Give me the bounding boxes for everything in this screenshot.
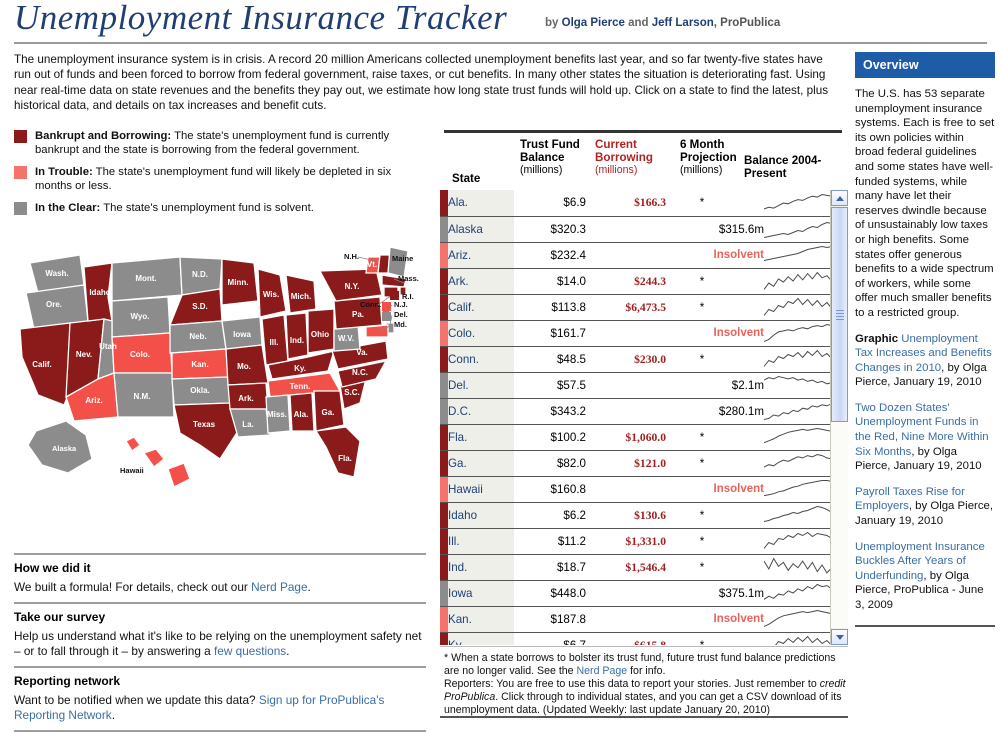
cell-state[interactable]: Ky.: [448, 632, 514, 645]
cell-projection: *: [666, 632, 764, 645]
row-status-bar: [440, 320, 448, 346]
map-label-al: Ala.: [294, 410, 309, 419]
table-row[interactable]: Iowa$448.0$375.1m: [440, 580, 848, 606]
map-label-mt: Mont.: [135, 274, 156, 283]
cell-projection: *: [666, 346, 764, 372]
map-label-ca: Calif.: [32, 360, 52, 369]
row-status-bar: [440, 450, 448, 476]
map-label-tn: Tenn.: [290, 382, 311, 391]
cell-current-borrowing: $166.3: [586, 190, 666, 216]
row-status-bar: [440, 502, 448, 528]
row-status-bar: [440, 398, 448, 424]
cell-trust-fund: $343.2: [514, 398, 586, 424]
table-row[interactable]: Conn.$48.5$230.0*: [440, 346, 848, 372]
row-status-bar: [440, 606, 448, 632]
cell-state[interactable]: Ill.: [448, 528, 514, 554]
sidebar-item-1-prefix: Graphic: [855, 333, 901, 345]
table-row[interactable]: Ind.$18.7$1,546.4*: [440, 554, 848, 580]
scroll-up-button[interactable]: [831, 190, 848, 206]
table-header-row: State Trust Fund Balance (millions) Curr…: [440, 133, 848, 190]
cell-current-borrowing: [586, 320, 666, 346]
map-label-va: Va.: [356, 348, 368, 357]
cell-state[interactable]: Ala.: [448, 190, 514, 216]
panel-body-survey: Help us understand what it's like to be …: [14, 629, 426, 659]
legend-desc-clear: The state's unemployment fund is solvent…: [100, 202, 314, 214]
map-svg[interactable]: Wash. Ore. Calif. Nev. Idaho Mont. Wyo. …: [8, 245, 428, 545]
state-tx[interactable]: [174, 403, 238, 459]
cell-state[interactable]: Iowa: [448, 580, 514, 606]
scrollbar-track[interactable]: [831, 422, 848, 628]
state-table-panel: State Trust Fund Balance (millions) Curr…: [440, 130, 848, 645]
state-md[interactable]: [366, 325, 388, 337]
table-row[interactable]: Calif.$113.8$6,473.5*: [440, 294, 848, 320]
cell-trust-fund: $14.0: [514, 268, 586, 294]
cell-projection: *: [666, 450, 764, 476]
legend-swatch-trouble-icon: [14, 166, 27, 179]
map-label-ok: Okla.: [190, 386, 210, 395]
footnote-line1b: for info.: [627, 665, 665, 677]
map-label-nh: N.H.: [344, 252, 359, 261]
cell-current-borrowing: [586, 398, 666, 424]
table-scroll-viewport[interactable]: Ala.$6.9$166.3*Alaska$320.3$315.6mAriz.$…: [440, 190, 848, 645]
column-header-balance-history: Balance 2004-Present: [744, 155, 839, 180]
cell-current-borrowing: $6,473.5: [586, 294, 666, 320]
author-1[interactable]: Olga Pierce: [562, 17, 625, 29]
map-label-oh: Ohio: [311, 330, 329, 339]
map-label-hi: Hawaii: [120, 466, 144, 475]
panel-text-how-a: We built a formula! For details, check o…: [14, 580, 251, 594]
cell-state[interactable]: Hawaii: [448, 476, 514, 502]
panel-text-survey-b: .: [286, 644, 289, 658]
state-hi[interactable]: [126, 437, 140, 451]
scrollbar-grip-icon: [836, 310, 844, 320]
legend-item-bankrupt: Bankrupt and Borrowing: The state's unem…: [14, 129, 424, 157]
left-panels: How we did it We built a formula! For de…: [14, 553, 426, 732]
column-header-projection-unit: (millions): [680, 164, 722, 176]
cell-current-borrowing: $230.0: [586, 346, 666, 372]
map-label-fl: Fla.: [338, 454, 352, 463]
cell-trust-fund: $100.2: [514, 424, 586, 450]
cell-trust-fund: $6.2: [514, 502, 586, 528]
table-row[interactable]: Colo.$161.7Insolvent: [440, 320, 848, 346]
footnote-bottom-rule: [440, 716, 848, 718]
cell-current-borrowing: $615.8: [586, 632, 666, 645]
map-label-mo: Mo.: [237, 362, 251, 371]
cell-state[interactable]: Conn.: [448, 346, 514, 372]
map-swatch-nj-icon: [382, 302, 391, 311]
cell-current-borrowing: $1,546.4: [586, 554, 666, 580]
legend-text-clear: In the Clear: The state's unemployment f…: [35, 201, 314, 215]
table-row[interactable]: Fla.$100.2$1,060.0*: [440, 424, 848, 450]
row-status-bar: [440, 294, 448, 320]
cell-trust-fund: $18.7: [514, 554, 586, 580]
cell-projection: Insolvent: [666, 476, 764, 502]
cell-state[interactable]: Fla.: [448, 424, 514, 450]
table-vertical-scrollbar[interactable]: [830, 190, 848, 645]
legend-swatch-clear-icon: [14, 202, 27, 215]
row-status-bar: [440, 528, 448, 554]
map-label-ar: Ark.: [238, 394, 254, 403]
map-swatch-ri-icon: [390, 291, 399, 300]
cell-trust-fund: $232.4: [514, 242, 586, 268]
cell-projection: $280.1m: [666, 398, 764, 424]
cell-projection: Insolvent: [666, 320, 764, 346]
column-header-state[interactable]: State: [452, 173, 480, 186]
map-label-ga: Ga.: [322, 408, 335, 417]
cell-projection: *: [666, 554, 764, 580]
nerd-page-link-2[interactable]: Nerd Page: [577, 665, 628, 677]
map-label-me: Maine: [392, 254, 413, 263]
state-hi2[interactable]: [144, 449, 164, 467]
cell-state[interactable]: Del.: [448, 372, 514, 398]
cell-state[interactable]: Ark.: [448, 268, 514, 294]
column-header-trust-fund-unit: (millions): [520, 164, 562, 176]
sidebar-link-item-4: Unemployment Insurance Buckles After Yea…: [855, 540, 995, 613]
map-legend: Bankrupt and Borrowing: The state's unem…: [14, 129, 424, 215]
map-label-ny: N.Y.: [345, 282, 360, 291]
sidebar-link-item-1: Graphic Unemployment Tax Increases and B…: [855, 332, 995, 390]
panel-heading-how: How we did it: [14, 561, 426, 575]
page-title: Unemployment Insurance Tracker: [14, 0, 507, 38]
right-sidebar: Overview The U.S. has 53 separate unempl…: [855, 52, 995, 627]
legend-term-trouble: In Trouble:: [35, 166, 93, 178]
intro-paragraph: The unemployment insurance system is in …: [14, 52, 842, 114]
cell-state[interactable]: Colo.: [448, 320, 514, 346]
panel-divider-1: [14, 553, 426, 555]
cell-trust-fund: $161.7: [514, 320, 586, 346]
cell-state[interactable]: Kan.: [448, 606, 514, 632]
cell-state[interactable]: Alaska: [448, 216, 514, 242]
map-label-id: Idaho: [89, 288, 110, 297]
cell-current-borrowing: $130.6: [586, 502, 666, 528]
scroll-down-button[interactable]: [831, 629, 848, 645]
panel-heading-network: Reporting network: [14, 674, 426, 688]
overview-heading: Overview: [855, 52, 995, 78]
footnote-top-rule: [440, 646, 848, 647]
overview-body: The U.S. has 53 separate unemployment in…: [855, 87, 995, 321]
map-label-ne: Neb.: [189, 332, 206, 341]
panel-body-how: We built a formula! For details, check o…: [14, 580, 426, 595]
map-label-il: Ill.: [270, 338, 279, 347]
cell-current-borrowing: [586, 476, 666, 502]
legend-term-bankrupt: Bankrupt and Borrowing:: [35, 130, 171, 142]
map-label-wa: Wash.: [45, 269, 68, 278]
cell-trust-fund: $320.3: [514, 216, 586, 242]
column-header-current-borrowing-unit: (millions): [595, 164, 637, 176]
cell-trust-fund: $57.5: [514, 372, 586, 398]
cell-trust-fund: $448.0: [514, 580, 586, 606]
panel-divider-3: [14, 666, 426, 668]
cell-state[interactable]: Ga.: [448, 450, 514, 476]
map-label-wy: Wyo.: [131, 312, 150, 321]
row-status-bar: [440, 190, 448, 216]
map-label-la: La.: [242, 420, 254, 429]
map-label-nm: N.M.: [134, 392, 151, 401]
map-label-ks: Kan.: [191, 360, 208, 369]
map-label-sc: S.C.: [344, 388, 360, 397]
cell-current-borrowing: $121.0: [586, 450, 666, 476]
cell-current-borrowing: [586, 216, 666, 242]
cell-current-borrowing: [586, 580, 666, 606]
map-label-vt: Vt.: [367, 260, 377, 269]
cell-trust-fund: $187.8: [514, 606, 586, 632]
chevron-up-icon: [836, 196, 844, 201]
map-label-de: Del.: [394, 310, 408, 319]
cell-trust-fund: $113.8: [514, 294, 586, 320]
column-header-trust-fund-label: Trust Fund Balance: [520, 138, 580, 164]
cell-trust-fund: $6.7: [514, 632, 586, 645]
map-label-md: Md.: [394, 320, 407, 329]
table-row[interactable]: Alaska$320.3$315.6m: [440, 216, 848, 242]
footnote-line2b: . Click through to individual states, an…: [444, 691, 842, 716]
panel-divider-2: [14, 602, 426, 604]
cell-current-borrowing: [586, 242, 666, 268]
map-label-nv: Nev.: [76, 350, 92, 359]
map-label-pa: Pa.: [352, 310, 364, 319]
legend-text-trouble: In Trouble: The state's unemployment fun…: [35, 165, 424, 193]
cell-current-borrowing: $244.3: [586, 268, 666, 294]
row-status-bar: [440, 554, 448, 580]
panel-text-how-b: .: [308, 580, 311, 594]
row-status-bar: [440, 346, 448, 372]
table-body: Ala.$6.9$166.3*Alaska$320.3$315.6mAriz.$…: [440, 190, 848, 645]
cell-trust-fund: $11.2: [514, 528, 586, 554]
cell-projection: Insolvent: [666, 606, 764, 632]
map-label-nc: N.C.: [352, 368, 368, 377]
table-row[interactable]: Del.$57.5$2.1m: [440, 372, 848, 398]
cell-projection: *: [666, 528, 764, 554]
cell-projection: *: [666, 502, 764, 528]
cell-projection: $375.1m: [666, 580, 764, 606]
map-label-wi: Wis.: [263, 290, 279, 299]
us-choropleth-map[interactable]: Wash. Ore. Calif. Nev. Idaho Mont. Wyo. …: [8, 245, 428, 550]
table-row[interactable]: Ill.$11.2$1,331.0*: [440, 528, 848, 554]
header-divider: [14, 42, 987, 44]
panel-text-network-b: .: [112, 708, 115, 722]
map-label-ak: Alaska: [52, 444, 77, 453]
cell-current-borrowing: $1,331.0: [586, 528, 666, 554]
panel-text-network-a: Want to be notified when we update this …: [14, 693, 259, 707]
table-row[interactable]: Kan.$187.8Insolvent: [440, 606, 848, 632]
map-label-nj: N.J.: [394, 300, 408, 309]
cell-projection: *: [666, 294, 764, 320]
cell-state[interactable]: Ariz.: [448, 242, 514, 268]
table-row[interactable]: Ky.$6.7$615.8*: [440, 632, 848, 645]
cell-state[interactable]: Idaho: [448, 502, 514, 528]
cell-projection: *: [666, 424, 764, 450]
table-row[interactable]: Hawaii$160.8Insolvent: [440, 476, 848, 502]
publisher: , ProPublica: [714, 17, 780, 29]
cell-current-borrowing: [586, 606, 666, 632]
state-hi3[interactable]: [168, 463, 190, 487]
row-status-bar: [440, 424, 448, 450]
map-label-co: Colo.: [130, 350, 150, 359]
chevron-down-icon: [836, 635, 844, 640]
map-label-ut: Utah: [99, 342, 117, 351]
map-label-mi: Mich.: [291, 292, 311, 301]
column-header-projection[interactable]: 6 Month Projection (millions): [680, 139, 752, 177]
map-label-ky: Ky.: [294, 364, 306, 373]
row-status-bar: [440, 242, 448, 268]
table-footnote: * When a state borrows to bolster its tr…: [444, 652, 848, 717]
row-status-bar: [440, 372, 448, 398]
column-header-trust-fund[interactable]: Trust Fund Balance (millions): [520, 139, 586, 177]
map-label-ms: Miss.: [267, 410, 287, 419]
byline-prefix: by: [545, 17, 562, 29]
cell-state[interactable]: D.C.: [448, 398, 514, 424]
cell-trust-fund: $160.8: [514, 476, 586, 502]
map-label-az: Ariz.: [85, 396, 102, 405]
cell-state[interactable]: Ind.: [448, 554, 514, 580]
cell-projection: *: [666, 268, 764, 294]
map-label-sd: S.D.: [192, 302, 208, 311]
cell-projection: *: [666, 190, 764, 216]
footnote-line2a: Reporters: You are free to use this data…: [444, 678, 820, 690]
page-header: Unemployment Insurance Tracker by Olga P…: [0, 0, 1001, 44]
cell-trust-fund: $82.0: [514, 450, 586, 476]
map-swatch-de-icon: [382, 312, 391, 321]
map-label-or: Ore.: [46, 300, 62, 309]
nerd-page-link-1[interactable]: Nerd Page: [251, 580, 307, 594]
state-fl[interactable]: [316, 427, 360, 477]
map-label-ia: Iowa: [233, 330, 251, 339]
table-row[interactable]: Ariz.$232.4Insolvent: [440, 242, 848, 268]
cell-state[interactable]: Calif.: [448, 294, 514, 320]
cell-trust-fund: $48.5: [514, 346, 586, 372]
few-questions-link[interactable]: few questions: [214, 644, 286, 658]
cell-projection: $2.1m: [666, 372, 764, 398]
map-label-nd: N.D.: [192, 270, 208, 279]
scrollbar-thumb[interactable]: [831, 207, 848, 422]
byline-and: and: [625, 17, 652, 29]
sidebar-bottom-rule: [855, 625, 995, 627]
map-label-tx: Texas: [193, 420, 216, 429]
legend-item-trouble: In Trouble: The state's unemployment fun…: [14, 165, 424, 193]
row-status-bar: [440, 476, 448, 502]
cell-trust-fund: $6.9: [514, 190, 586, 216]
table-row[interactable]: Idaho$6.2$130.6*: [440, 502, 848, 528]
byline: by Olga Pierce and Jeff Larson, ProPubli…: [545, 17, 780, 29]
tracker-page: Unemployment Insurance Tracker by Olga P…: [0, 0, 1001, 721]
row-status-bar: [440, 632, 448, 645]
map-label-in: Ind.: [290, 336, 304, 345]
cell-projection: Insolvent: [666, 242, 764, 268]
table-row[interactable]: D.C.$343.2$280.1m: [440, 398, 848, 424]
author-2[interactable]: Jeff Larson: [652, 17, 714, 29]
map-label-mn: Minn.: [228, 278, 249, 287]
cell-projection: $315.6m: [666, 216, 764, 242]
column-header-current-borrowing[interactable]: Current Borrowing (millions): [595, 139, 667, 177]
cell-current-borrowing: [586, 372, 666, 398]
column-header-projection-label: 6 Month Projection: [680, 138, 737, 164]
map-label-wv: W.V.: [338, 334, 354, 343]
table-row[interactable]: Ga.$82.0$121.0*: [440, 450, 848, 476]
legend-text-bankrupt: Bankrupt and Borrowing: The state's unem…: [35, 129, 424, 157]
sidebar-link-item-2: Two Dozen States' Unemployment Funds in …: [855, 401, 995, 474]
legend-item-clear: In the Clear: The state's unemployment f…: [14, 201, 424, 215]
table-row[interactable]: Ark.$14.0$244.3*: [440, 268, 848, 294]
cell-current-borrowing: $1,060.0: [586, 424, 666, 450]
row-status-bar: [440, 580, 448, 606]
state-table: Ala.$6.9$166.3*Alaska$320.3$315.6mAriz.$…: [440, 190, 848, 645]
left-column: The unemployment insurance system is in …: [14, 52, 434, 223]
panel-heading-survey: Take our survey: [14, 610, 426, 624]
sidebar-link-item-3: Payroll Taxes Rise for Employers, by Olg…: [855, 485, 995, 529]
row-status-bar: [440, 216, 448, 242]
table-row[interactable]: Ala.$6.9$166.3*: [440, 190, 848, 216]
panel-body-network: Want to be notified when we update this …: [14, 693, 426, 723]
row-status-bar: [440, 268, 448, 294]
column-header-current-borrowing-label: Current Borrowing: [595, 138, 653, 164]
legend-swatch-bankrupt-icon: [14, 130, 27, 143]
legend-term-clear: In the Clear:: [35, 202, 100, 214]
